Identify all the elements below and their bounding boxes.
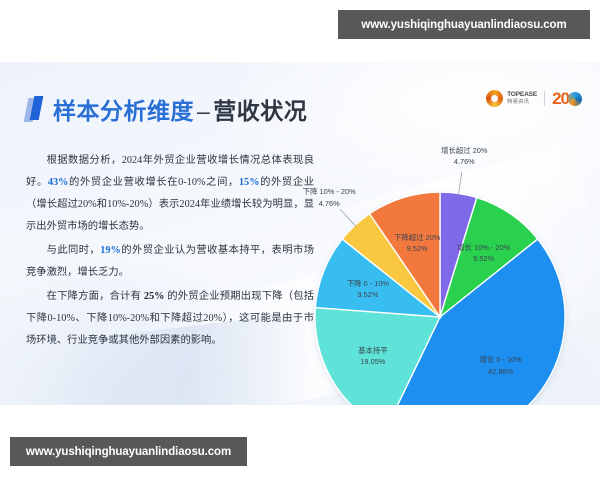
text-run: 43% [48,177,69,188]
screenshot-root: www.yushiqinghuayuanlindiaosu.com 样本分析维度… [0,0,600,480]
title-text: 样本分析维度–营收状况 [53,92,307,126]
pie-label-leader-line [340,209,356,227]
paragraph-3: 在下降方面，合计有 25% 的外贸企业预期出现下降（包括下降0-10%、下降10… [26,286,314,352]
pie-label-leader-line [458,172,462,196]
presentation-slide: 样本分析维度–营收状况 TOPEASE 特易资讯 20 根据数据分析，2024年… [0,62,600,405]
title-separator: – [194,98,213,124]
pie-chart-svg [288,72,600,405]
text-run: 在下降方面，合计有 [47,291,144,302]
text-run: 的外贸企业营收增长在0-10%之间， [68,177,238,188]
text-run: 25% [144,291,165,302]
watermark-bottom: www.yushiqinghuayuanlindiaosu.com [10,437,247,466]
title-accent-bar-icon [26,96,42,122]
text-run: 与此同时， [47,245,101,256]
text-run: 19% [100,245,121,256]
revenue-pie-chart: 增长超过 20%4.76%增长 10% - 20%9.52%增长 0 - 10%… [288,72,600,405]
body-text: 根据数据分析，2024年外贸企业营收增长情况总体表现良好。43%的外贸企业营收增… [26,150,314,354]
text-run: 15% [239,177,260,188]
page-title: 样本分析维度–营收状况 [26,92,307,126]
title-main-text: 样本分析维度 [53,98,194,124]
paragraph-1: 根据数据分析，2024年外贸企业营收增长情况总体表现良好。43%的外贸企业营收增… [26,150,314,238]
watermark-top: www.yushiqinghuayuanlindiaosu.com [338,10,590,39]
paragraph-2: 与此同时，19%的外贸企业认为营收基本持平，表明市场竞争激烈，增长乏力。 [26,240,314,284]
